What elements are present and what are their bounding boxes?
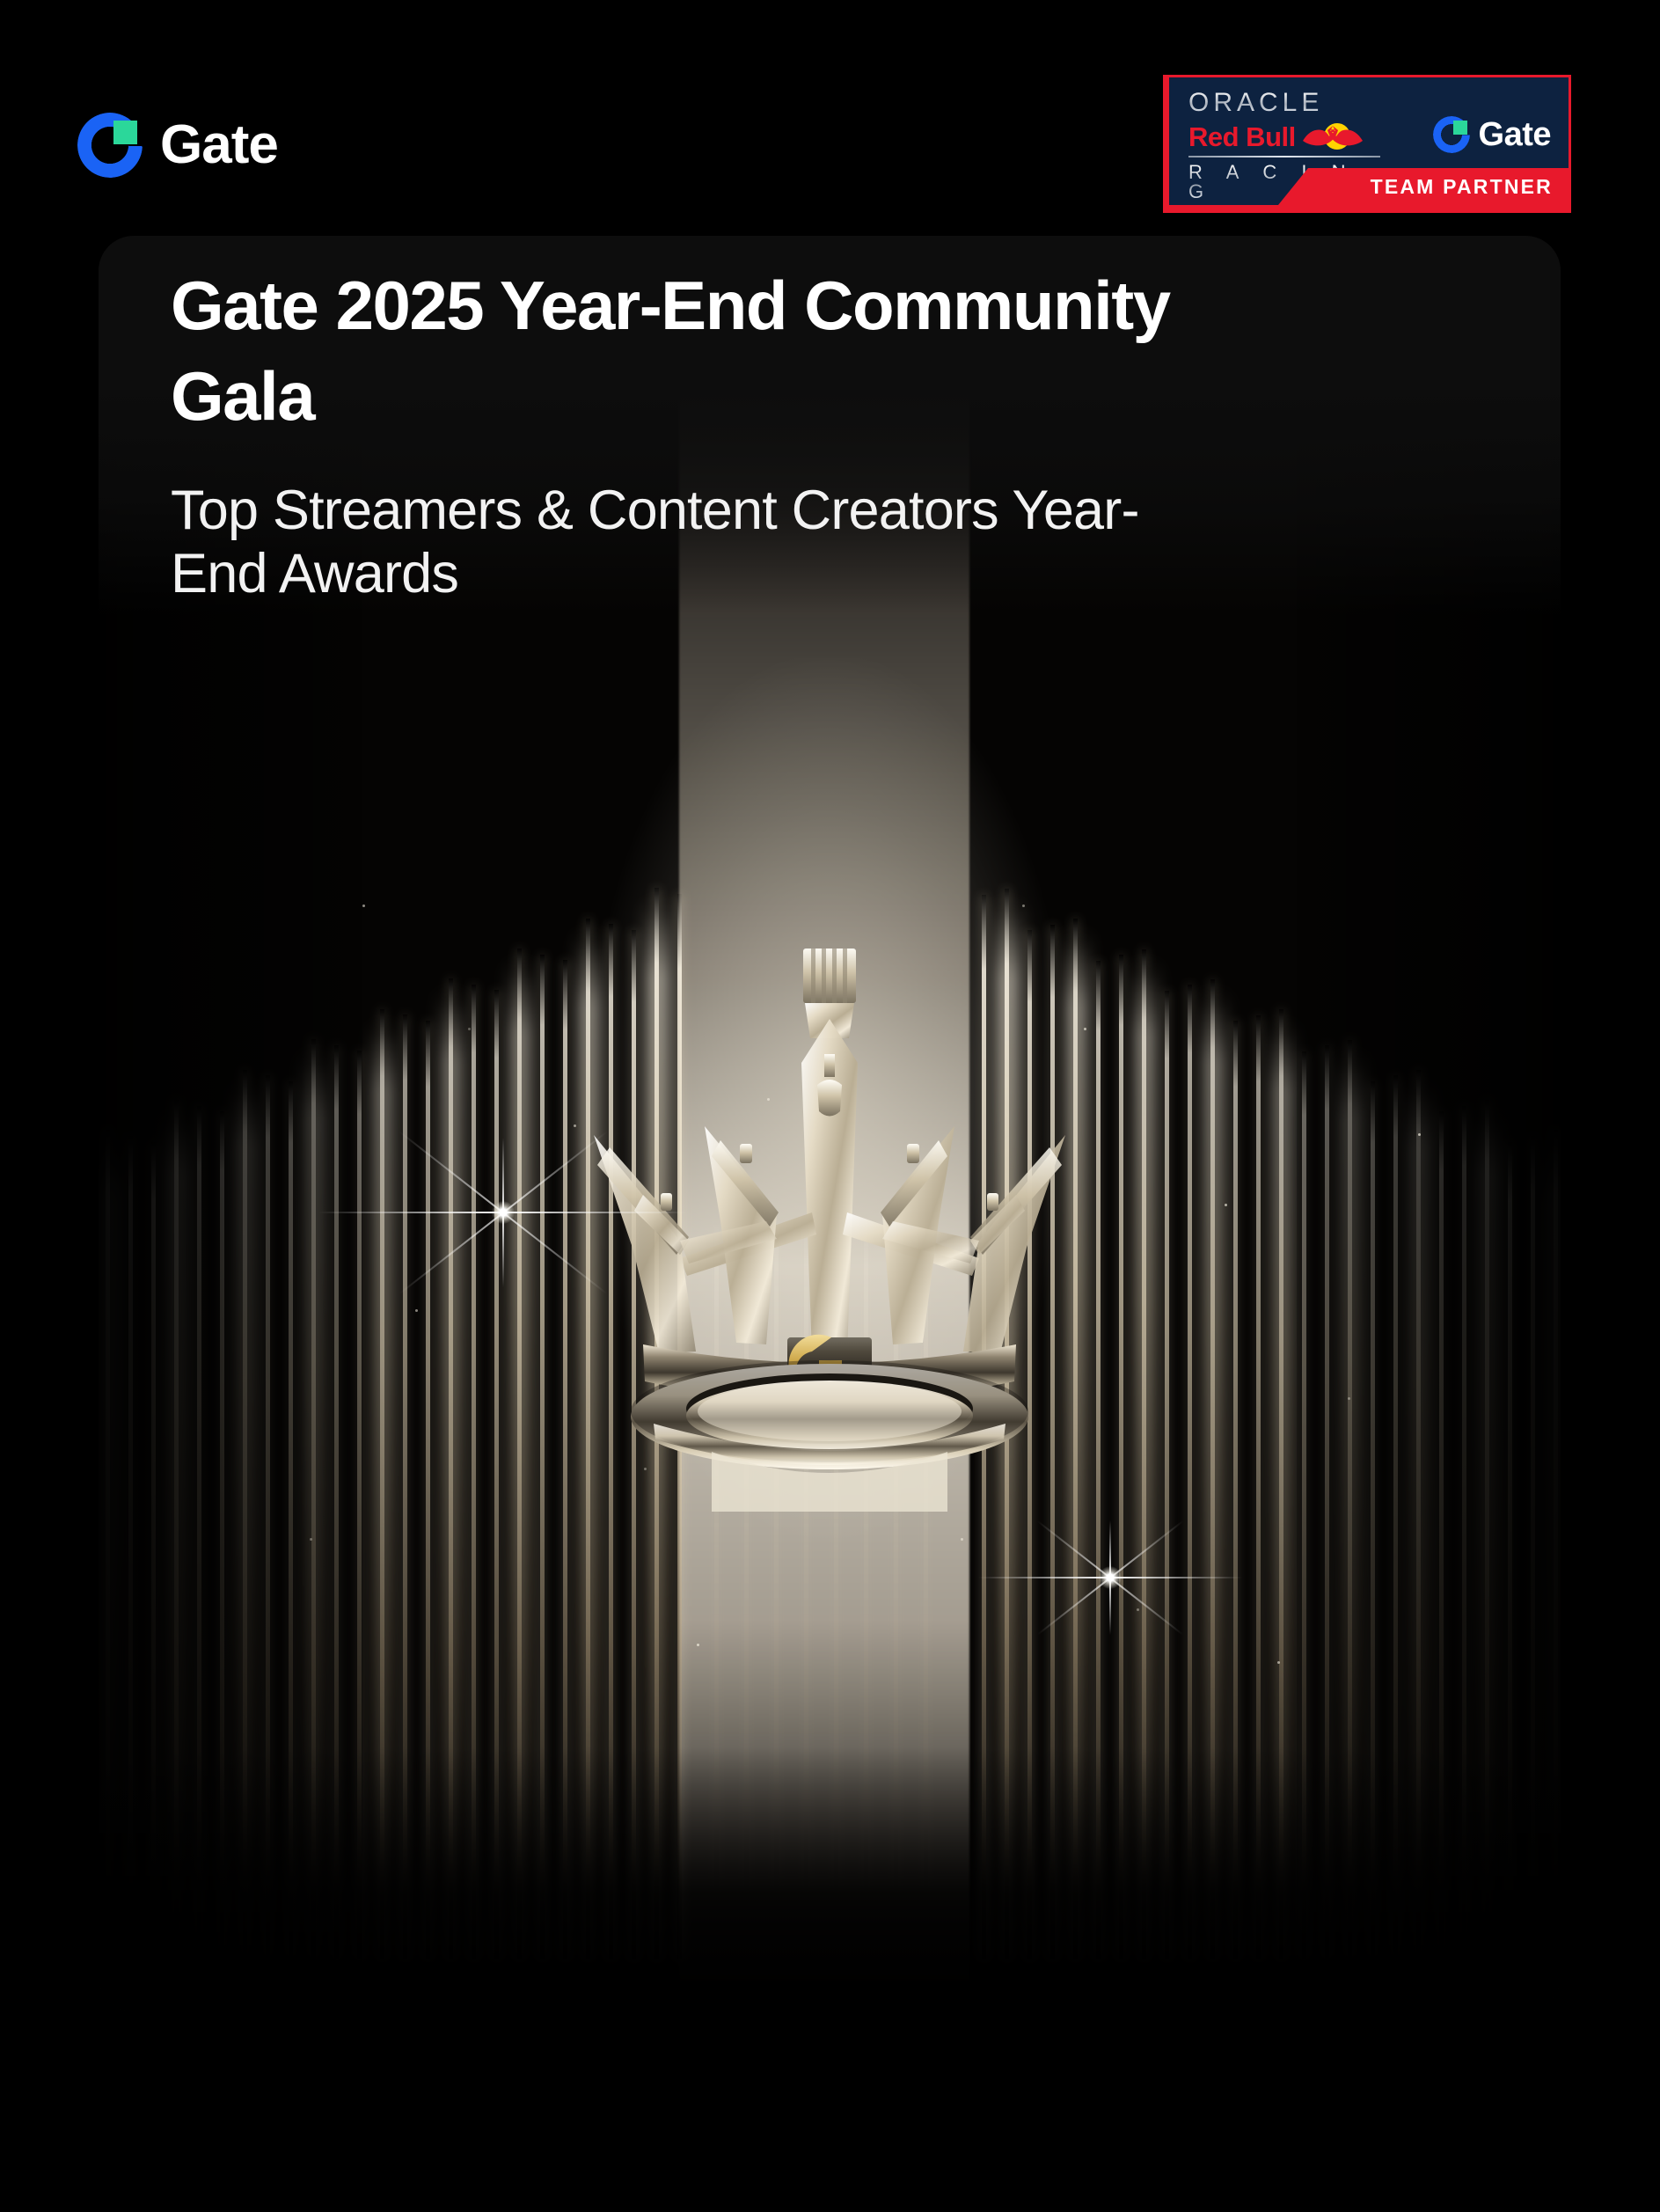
team-partner-banner: TEAM PARTNER <box>1278 168 1569 205</box>
page-title: Gate 2025 Year-End Community Gala <box>171 260 1200 442</box>
gate-brand-wordmark: Gate <box>160 118 278 172</box>
badge-divider <box>1188 156 1380 157</box>
badge-bottom-stripe <box>1169 205 1569 213</box>
crystal-crown <box>548 931 1111 1512</box>
badge-gate-logo: Gate <box>1433 116 1551 153</box>
gate-logo-icon <box>1433 116 1470 153</box>
gate-logo-icon <box>77 113 143 178</box>
page-header: Gate ORACLE Red Bull <box>0 0 1660 233</box>
red-bull-row: Red Bull <box>1188 121 1380 151</box>
page-root: Gate ORACLE Red Bull <box>0 0 1660 2212</box>
gate-logo-square <box>1453 121 1467 135</box>
team-partner-label: TEAM PARTNER <box>1371 175 1553 199</box>
gate-logo-square <box>113 121 137 144</box>
red-bull-charging-bulls-icon <box>1301 121 1364 151</box>
gate-brand-logo[interactable]: Gate <box>77 113 278 178</box>
oracle-wordmark: ORACLE <box>1188 90 1380 116</box>
bottom-gradient-overlay <box>99 1747 1561 2011</box>
badge-gate-wordmark: Gate <box>1479 118 1551 151</box>
red-bull-wordmark: Red Bull <box>1188 123 1296 150</box>
card-text-block: Gate 2025 Year-End Community Gala Top St… <box>99 236 1561 606</box>
page-subtitle: Top Streamers & Content Creators Year-En… <box>171 479 1200 606</box>
oracle-red-bull-racing-team-partner-badge[interactable]: ORACLE Red Bull R A C I N G <box>1163 75 1571 213</box>
announcement-card[interactable]: Gate 2025 Year-End Community Gala Top St… <box>99 236 1561 2011</box>
